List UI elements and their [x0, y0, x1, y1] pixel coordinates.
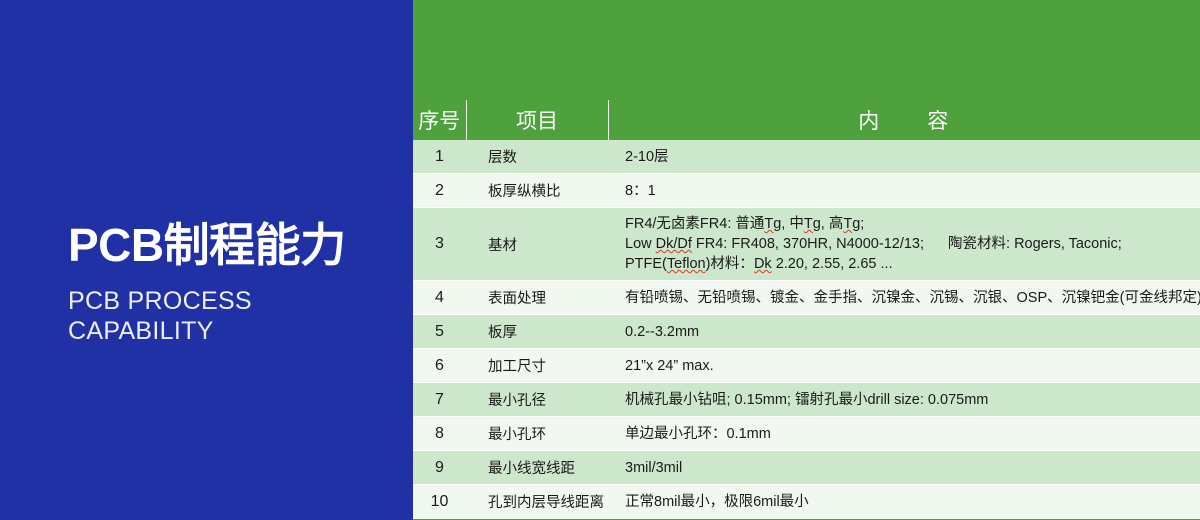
table-row: 6 加工尺寸 21”x 24” max. — [413, 349, 1200, 383]
cell-no: 1 — [413, 140, 466, 174]
cell-no: 6 — [413, 349, 466, 383]
substrate-line-2: Low Dk/Df FR4: FR408, 370HR, N4000-12/13… — [625, 234, 1200, 254]
cell-item: 基材 — [466, 208, 608, 281]
cell-item: 最小孔径 — [466, 383, 608, 417]
substrate-l2-b: FR4: FR408, 370HR, N4000-12/13; — [692, 236, 924, 252]
cell-item: 最小孔环 — [466, 417, 608, 451]
cell-no: 5 — [413, 315, 466, 349]
substrate-l3-b: )材料： — [706, 256, 754, 272]
substrate-l1-b: , 中 — [781, 216, 804, 232]
table-row: 3 基材 FR4/无卤素FR4: 普通Tg, 中Tg, 高Tg; Low Dk/… — [413, 208, 1200, 281]
substrate-l1-tg3: Tg — [843, 216, 860, 232]
column-header-item: 项目 — [466, 100, 608, 140]
left-title-panel: PCB制程能力 PCB PROCESS CAPABILITY — [0, 0, 413, 520]
table-row: 1 层数 2-10层 — [413, 140, 1200, 174]
substrate-l1-c: , 高 — [821, 216, 844, 232]
cell-item: 层数 — [466, 140, 608, 174]
spec-table-container: 序号 项目 内 容 1 层数 2-10层 2 板厚纵横比 8：1 — [413, 100, 1200, 519]
table-row: 8 最小孔环 单边最小孔环：0.1mm — [413, 417, 1200, 451]
cell-content: 21”x 24” max. — [608, 349, 1200, 383]
substrate-l1-a: FR4/无卤素FR4: 普通 — [625, 216, 764, 232]
table-row: 5 板厚 0.2--3.2mm — [413, 315, 1200, 349]
cell-content: 单边最小孔环：0.1mm — [608, 417, 1200, 451]
table-header: 序号 项目 内 容 — [413, 100, 1200, 140]
substrate-l1-d: ; — [860, 216, 864, 232]
cell-content: 正常8mil最小，极限6mil最小 — [608, 485, 1200, 519]
cell-item: 板厚 — [466, 315, 608, 349]
substrate-line-3: PTFE(Teflon)材料：Dk 2.20, 2.55, 2.65 ... — [625, 254, 1200, 274]
cell-content: 0.2--3.2mm — [608, 315, 1200, 349]
substrate-l1-tg2: Tg — [804, 216, 821, 232]
substrate-l2-dk: Dk/Df — [656, 236, 692, 252]
cell-no: 9 — [413, 451, 466, 485]
column-header-content: 内 容 — [608, 100, 1200, 140]
pcb-capability-table: 序号 项目 内 容 1 层数 2-10层 2 板厚纵横比 8：1 — [413, 100, 1200, 519]
cell-no: 3 — [413, 208, 466, 281]
cell-no: 7 — [413, 383, 466, 417]
cell-content: 机械孔最小钻咀; 0.15mm; 镭射孔最小drill size: 0.075m… — [608, 383, 1200, 417]
substrate-l3-c: 2.20, 2.55, 2.65 ... — [772, 256, 893, 272]
substrate-l3-a: PTFE( — [625, 256, 667, 272]
substrate-l3-dk: Dk — [754, 256, 772, 272]
table-body: 1 层数 2-10层 2 板厚纵横比 8：1 3 基材 FR4/无卤素FR4: … — [413, 140, 1200, 519]
table-row: 7 最小孔径 机械孔最小钻咀; 0.15mm; 镭射孔最小drill size:… — [413, 383, 1200, 417]
page-subtitle-line2: CAPABILITY — [68, 316, 398, 346]
cell-content: 有铅喷锡、无铅喷锡、镀金、金手指、沉镍金、沉锡、沉银、OSP、沉镍钯金(可金线邦… — [608, 281, 1200, 315]
cell-item: 加工尺寸 — [466, 349, 608, 383]
substrate-l2-c: 陶瓷材料: Rogers, Taconic; — [948, 236, 1122, 252]
slide-canvas: PCB制程能力 PCB PROCESS CAPABILITY 序号 项目 内 容 — [0, 0, 1200, 520]
cell-content: 8：1 — [608, 174, 1200, 208]
cell-content: 3mil/3mil — [608, 451, 1200, 485]
table-row: 10 孔到内层导线距离 正常8mil最小，极限6mil最小 — [413, 485, 1200, 519]
cell-no: 10 — [413, 485, 466, 519]
cell-no: 4 — [413, 281, 466, 315]
cell-item: 板厚纵横比 — [466, 174, 608, 208]
cell-content: 2-10层 — [608, 140, 1200, 174]
table-row: 9 最小线宽线距 3mil/3mil — [413, 451, 1200, 485]
table-row: 4 表面处理 有铅喷锡、无铅喷锡、镀金、金手指、沉镍金、沉锡、沉银、OSP、沉镍… — [413, 281, 1200, 315]
table-row: 2 板厚纵横比 8：1 — [413, 174, 1200, 208]
substrate-l1-tg1: Tg — [764, 216, 781, 232]
substrate-line-1: FR4/无卤素FR4: 普通Tg, 中Tg, 高Tg; — [625, 214, 1200, 234]
cell-no: 2 — [413, 174, 466, 208]
column-header-no: 序号 — [413, 100, 466, 140]
cell-content-substrate: FR4/无卤素FR4: 普通Tg, 中Tg, 高Tg; Low Dk/Df FR… — [608, 208, 1200, 281]
cell-item: 表面处理 — [466, 281, 608, 315]
title-block: PCB制程能力 PCB PROCESS CAPABILITY — [68, 218, 398, 346]
cell-item: 孔到内层导线距离 — [466, 485, 608, 519]
substrate-l2-a: Low — [625, 236, 656, 252]
page-subtitle: PCB PROCESS CAPABILITY — [68, 286, 398, 346]
substrate-l3-teflon: Teflon — [667, 256, 706, 272]
cell-no: 8 — [413, 417, 466, 451]
cell-item: 最小线宽线距 — [466, 451, 608, 485]
page-title: PCB制程能力 — [68, 218, 398, 272]
page-subtitle-line1: PCB PROCESS — [68, 286, 398, 316]
table-header-row: 序号 项目 内 容 — [413, 100, 1200, 140]
